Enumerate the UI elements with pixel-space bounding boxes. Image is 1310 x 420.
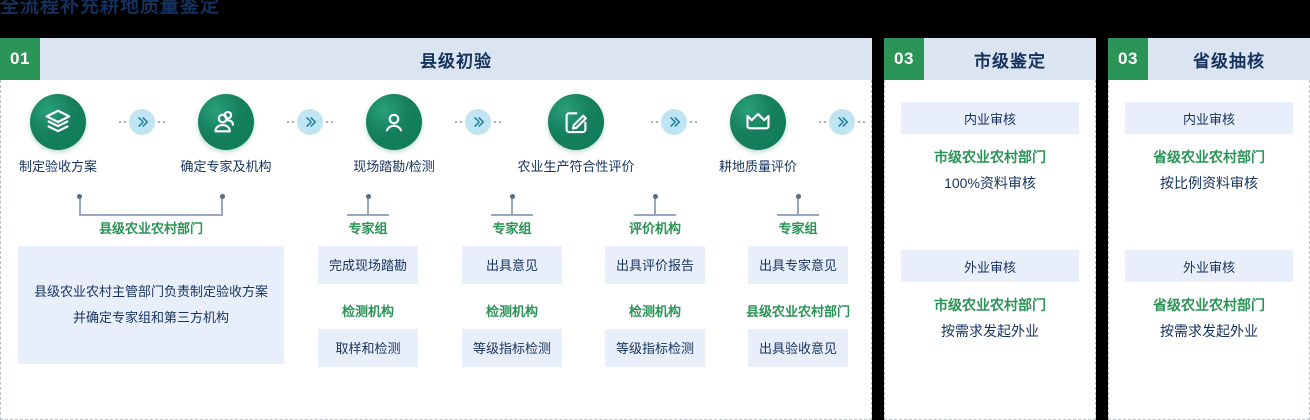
layers-icon	[30, 94, 86, 150]
review-group-internal-3: 内业审核 省级农业农村部门 按比例资料审核	[1125, 102, 1293, 192]
connector-dash	[819, 121, 826, 123]
panel-gap-2	[1096, 38, 1108, 420]
t-connector-step-4	[491, 196, 533, 216]
flow-connector-2	[283, 94, 337, 150]
role-label-secondary: 检测机构	[629, 303, 681, 320]
t-stem	[654, 198, 656, 216]
t-dot	[366, 194, 371, 199]
flow-connector-4	[647, 94, 701, 150]
t-stem	[367, 198, 369, 216]
section-number-badge-1: 01	[0, 38, 40, 80]
t-dot	[510, 194, 515, 199]
role-label: 专家组	[778, 220, 817, 237]
flow-step-6[interactable]: 出具验收意见	[869, 80, 872, 175]
flow-step-label-5: 耕地质量评价	[719, 159, 797, 175]
connector-dash	[651, 121, 658, 123]
review-group-header: 内业审核	[901, 102, 1079, 134]
review-group-header: 内业审核	[1125, 102, 1293, 134]
chevron-right-icon	[829, 109, 855, 135]
chevron-right-icon	[129, 109, 155, 135]
edit-square-icon	[548, 94, 604, 150]
review-group-org: 市级农业农村部门	[901, 148, 1079, 166]
role-detail-box-secondary: 取样和检测	[318, 329, 418, 367]
flow-step-4[interactable]: 农业生产符合性评价	[505, 80, 647, 175]
connector-dash	[690, 121, 697, 123]
t-stem	[511, 198, 513, 216]
flow-connector-5	[815, 94, 869, 150]
crown-icon	[730, 94, 786, 150]
connector-dash	[326, 121, 333, 123]
flow-step-1[interactable]: 制定验收方案	[1, 80, 115, 175]
review-group-external-3: 外业审核 省级农业农村部门 按需求发起外业	[1125, 250, 1293, 340]
connector-dash	[455, 121, 462, 123]
panel-body-1: 制定验收方案	[0, 80, 872, 420]
chevron-right-icon	[297, 109, 323, 135]
review-group-header: 外业审核	[901, 250, 1079, 282]
flow-step-label-4: 农业生产符合性评价	[517, 159, 634, 175]
section-header-2: 03 市级鉴定	[884, 38, 1096, 80]
role-column-5: 专家组 出具专家意见 县级农业农村部门 出具验收意见	[748, 220, 848, 367]
t-connector-step-5	[634, 196, 676, 216]
review-group-desc: 按需求发起外业	[901, 322, 1079, 340]
review-group-header: 外业审核	[1125, 250, 1293, 282]
chevron-right-icon	[465, 109, 491, 135]
section-title-3: 省级抽核	[1148, 38, 1310, 80]
connector-dash	[158, 121, 165, 123]
t-connector-step-3	[347, 196, 389, 216]
role-detail-box-secondary: 等级指标检测	[605, 329, 705, 367]
role-label: 专家组	[492, 220, 531, 237]
role-label: 专家组	[348, 220, 387, 237]
role-label-secondary: 检测机构	[486, 303, 538, 320]
connector-dash	[287, 121, 294, 123]
role-column-4: 评价机构 出具评价报告 检测机构 等级指标检测	[605, 220, 705, 367]
flow-step-5[interactable]: 耕地质量评价	[701, 80, 815, 175]
section-header-3: 03 省级抽核	[1108, 38, 1310, 80]
infographic-page: 全流程补充耕地质量鉴定 01 县级初验	[0, 0, 1310, 420]
flow-step-2[interactable]: 确定专家及机构	[169, 80, 283, 175]
flow-connector-1	[115, 94, 169, 150]
flow-step-label-2: 确定专家及机构	[180, 159, 271, 175]
role-detail-box-secondary: 等级指标检测	[462, 329, 562, 367]
connector-dash	[494, 121, 501, 123]
review-group-external-2: 外业审核 市级农业农村部门 按需求发起外业	[901, 250, 1079, 340]
panel-province-audit: 03 省级抽核 内业审核 省级农业农村部门 按比例资料审核 外业审核 省级农业农…	[1108, 38, 1310, 420]
panel-body-3: 内业审核 省级农业农村部门 按比例资料审核 外业审核 省级农业农村部门 按需求发…	[1108, 80, 1310, 420]
location-pin-icon	[366, 94, 422, 150]
bracket-leg-left	[79, 198, 81, 216]
experts-icon	[198, 94, 254, 150]
review-group-desc: 100%资料审核	[901, 174, 1079, 192]
section-title-1: 县级初验	[40, 38, 872, 80]
page-title: 全流程补充耕地质量鉴定	[0, 0, 220, 18]
role-label: 评价机构	[629, 220, 681, 237]
flow-step-label-3: 现场踏勘/检测	[353, 159, 435, 175]
role-detail-box: 出具评价报告	[605, 246, 705, 284]
bracket-connectors	[1, 196, 871, 222]
role-label: 县级农业农村部门	[99, 220, 203, 237]
panel-county-initial-inspection: 01 县级初验 制定验收方案	[0, 38, 872, 420]
connector-dash	[119, 121, 126, 123]
t-dot	[653, 194, 658, 199]
bracket-span-steps-1-2	[79, 196, 223, 216]
section-number-badge-3: 03	[1108, 38, 1148, 80]
role-label-secondary: 县级农业农村部门	[746, 303, 850, 320]
bracket-dot-right	[220, 194, 225, 199]
chevron-right-icon	[661, 109, 687, 135]
panel-body-2: 内业审核 市级农业农村部门 100%资料审核 外业审核 市级农业农村部门 按需求…	[884, 80, 1096, 420]
flow-step-label-1: 制定验收方案	[19, 159, 97, 175]
bracket-bar	[79, 214, 223, 216]
role-column-3: 专家组 出具意见 检测机构 等级指标检测	[462, 220, 562, 367]
role-columns: 县级农业农村部门 县级农业农村主管部门负责制定验收方案并确定专家组和第三方机构 …	[1, 220, 871, 420]
t-stem	[797, 198, 799, 216]
role-detail-box: 完成现场踏勘	[318, 246, 418, 284]
flow-connector-3	[451, 94, 505, 150]
review-group-desc: 按需求发起外业	[1125, 322, 1293, 340]
role-detail-box: 出具专家意见	[748, 246, 848, 284]
role-label-secondary: 检测机构	[342, 303, 394, 320]
role-column-1: 县级农业农村部门 县级农业农村主管部门负责制定验收方案并确定专家组和第三方机构	[18, 220, 284, 364]
section-number-badge-2: 03	[884, 38, 924, 80]
role-detail-box: 出具意见	[462, 246, 562, 284]
section-title-2: 市级鉴定	[924, 38, 1096, 80]
role-column-2: 专家组 完成现场踏勘 检测机构 取样和检测	[318, 220, 418, 367]
review-group-org: 省级农业农村部门	[1125, 148, 1293, 166]
t-dot	[796, 194, 801, 199]
bracket-leg-right	[221, 198, 223, 216]
role-detail-box: 县级农业农村主管部门负责制定验收方案并确定专家组和第三方机构	[18, 246, 284, 364]
review-group-desc: 按比例资料审核	[1125, 174, 1293, 192]
t-connector-step-6	[777, 196, 819, 216]
bracket-dot-left	[77, 194, 82, 199]
panels-row: 01 县级初验 制定验收方案	[0, 38, 1310, 420]
review-group-internal-2: 内业审核 市级农业农村部门 100%资料审核	[901, 102, 1079, 192]
connector-dash	[858, 121, 865, 123]
flow-step-3[interactable]: 现场踏勘/检测	[337, 80, 451, 175]
section-header-1: 01 县级初验	[0, 38, 872, 80]
role-detail-box-secondary: 出具验收意见	[748, 329, 848, 367]
review-group-org: 省级农业农村部门	[1125, 296, 1293, 314]
process-flow: 制定验收方案	[1, 80, 871, 196]
review-group-org: 市级农业农村部门	[901, 296, 1079, 314]
panel-gap-1	[872, 38, 884, 420]
panel-city-appraisal: 03 市级鉴定 内业审核 市级农业农村部门 100%资料审核 外业审核 市级农业…	[884, 38, 1096, 420]
